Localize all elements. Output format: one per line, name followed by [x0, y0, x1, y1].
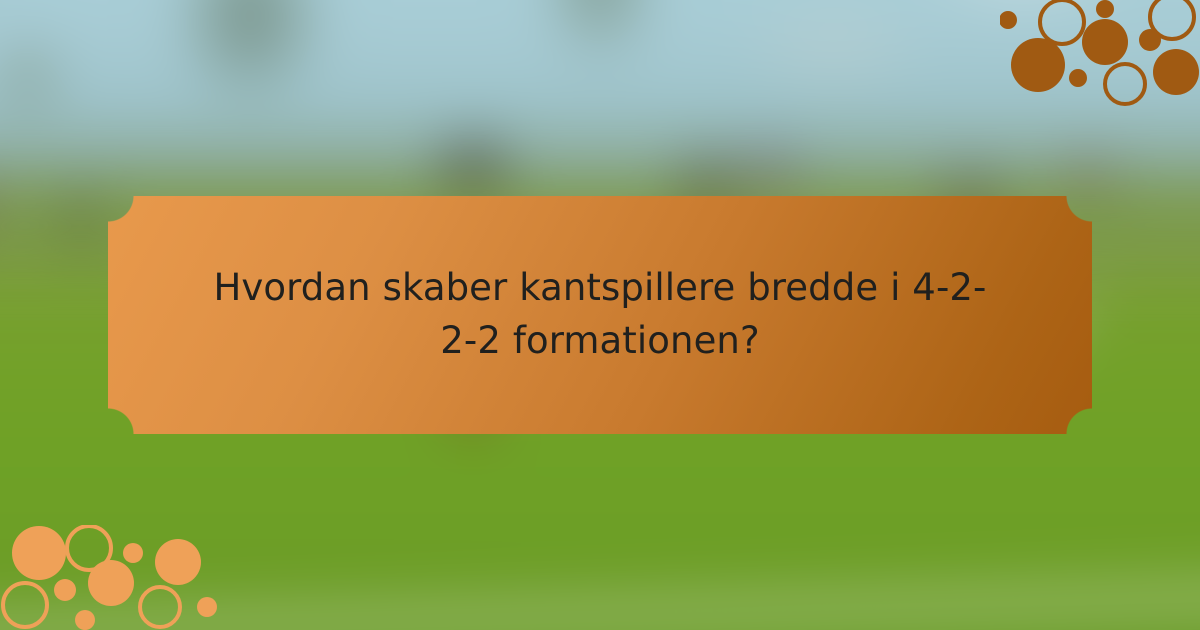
filled-circle-icon: [88, 560, 134, 606]
banner-card: Hvordan skaber kantspillere bredde i 4-2…: [108, 196, 1092, 434]
outline-circle-icon: [1105, 64, 1145, 104]
decoration-circles-top-right: [1000, 0, 1200, 110]
banner-stage: Hvordan skaber kantspillere bredde i 4-2…: [0, 0, 1200, 630]
outline-circle-icon: [3, 583, 47, 627]
decorative-circles-icon: [0, 525, 220, 630]
filled-circle-icon: [1000, 11, 1017, 29]
outline-circle-icon: [140, 587, 180, 627]
filled-circle-icon: [197, 597, 217, 617]
filled-circle-icon: [12, 526, 66, 580]
filled-circle-icon: [1082, 19, 1128, 65]
filled-circle-icon: [123, 543, 143, 563]
outline-circle-icon: [1040, 0, 1084, 44]
decorative-circles-icon: [1000, 0, 1200, 110]
filled-circle-icon: [75, 610, 95, 630]
filled-circle-icon: [155, 539, 201, 585]
filled-circle-icon: [1153, 49, 1199, 95]
banner-title: Hvordan skaber kantspillere bredde i 4-2…: [190, 262, 1010, 367]
filled-circle-icon: [1069, 69, 1087, 87]
filled-circle-icon: [1096, 0, 1114, 18]
filled-circle-icon: [54, 579, 76, 601]
filled-circle-icon: [1139, 29, 1161, 51]
decoration-circles-bottom-left: [0, 525, 220, 630]
filled-circle-icon: [1011, 38, 1065, 92]
